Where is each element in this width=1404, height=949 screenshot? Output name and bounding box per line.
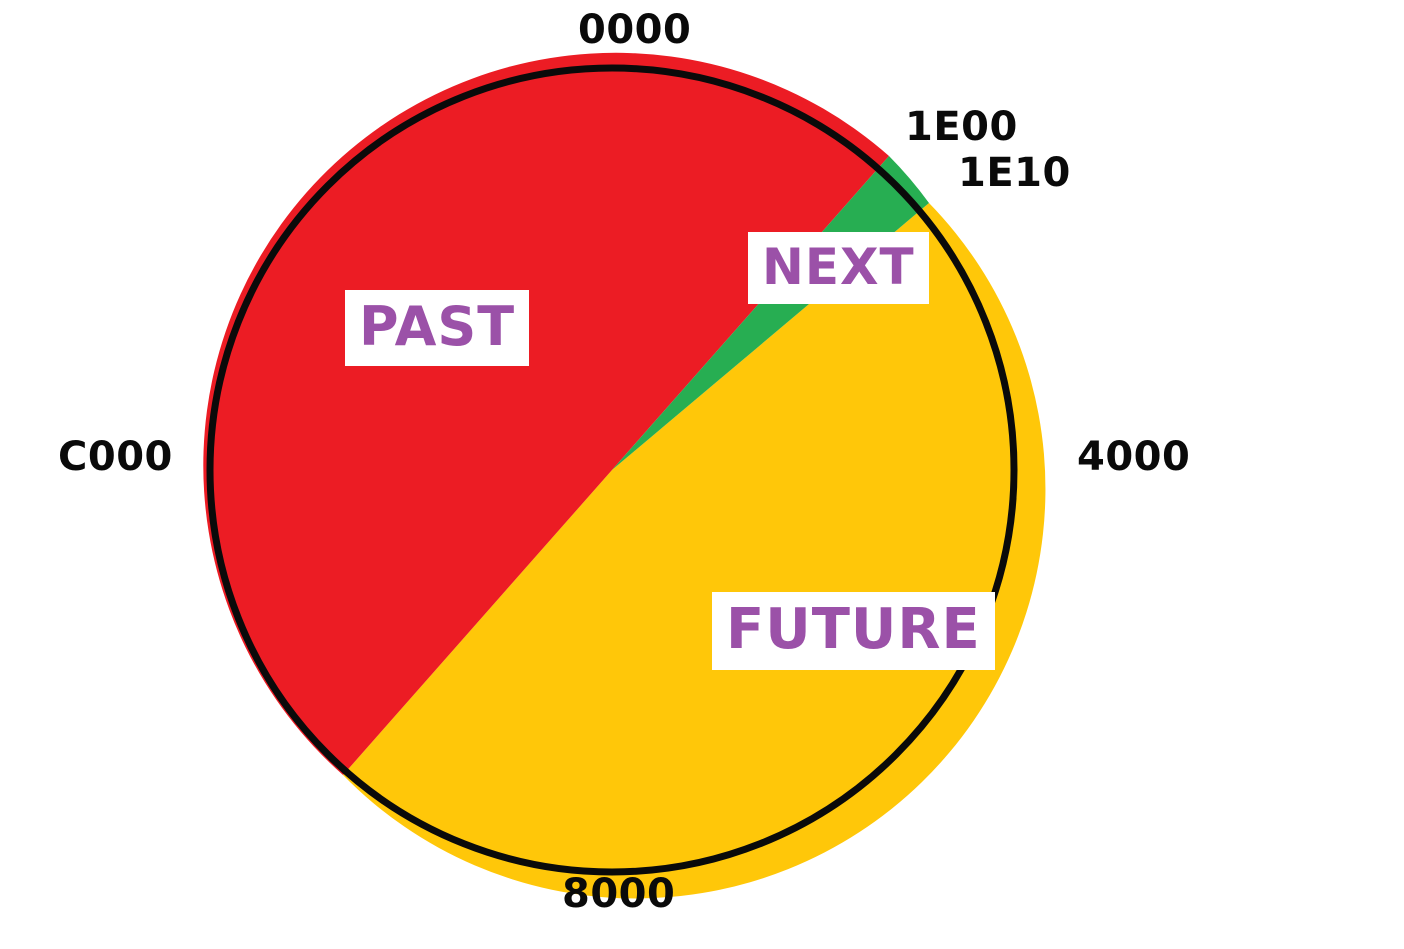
tick-label-1e10: 1E10 [958,153,1071,193]
tick-label-0000: 0000 [578,10,691,50]
ring-buffer-pie-chart [0,0,1404,949]
tick-label-c000: C000 [58,437,173,477]
diagram-canvas: 0000 1E00 1E10 4000 8000 C000 PAST NEXT … [0,0,1404,949]
sector-label-past: PAST [345,290,529,366]
tick-label-8000: 8000 [562,874,675,914]
tick-label-4000: 4000 [1077,437,1190,477]
tick-label-1e00: 1E00 [905,107,1018,147]
sector-label-next: NEXT [748,232,929,304]
sector-label-future: FUTURE [712,592,995,670]
